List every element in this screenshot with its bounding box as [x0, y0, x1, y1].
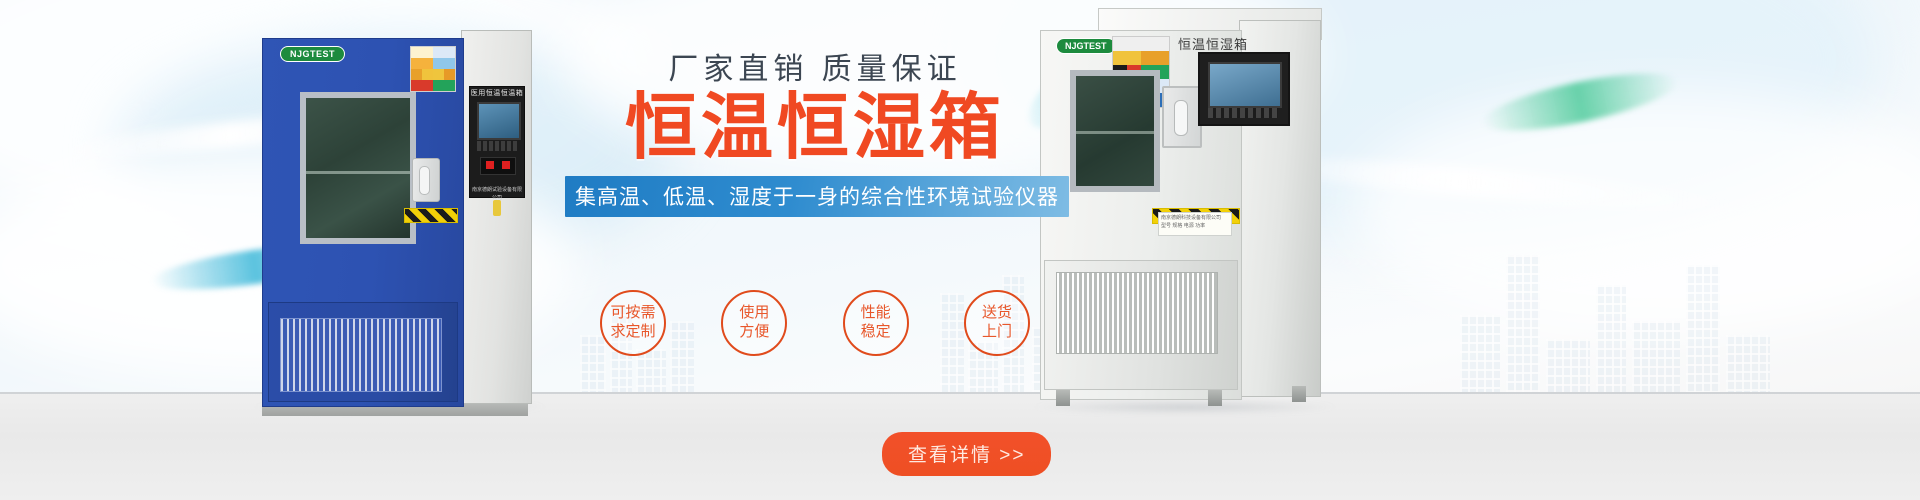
control-panel-title: 医用恒温恒温箱 — [470, 89, 524, 99]
control-panel-keys[interactable] — [1208, 108, 1278, 118]
window-glass — [306, 98, 410, 238]
ventilation-grille — [1056, 272, 1218, 354]
control-panel-keys[interactable] — [477, 141, 517, 151]
cloud-shape — [1350, 90, 1920, 330]
door-handle — [1162, 86, 1202, 148]
product-image-right-chamber: NJGTEST 恒温恒湿箱 南京德朗科技设备有限公司 型号 规格 电源 功率 — [1040, 8, 1320, 408]
banner-headline: 恒温恒湿箱 — [565, 90, 1065, 168]
feature-badge-group: 可按需 求定制 使用 方便 性能 稳定 送货 上门 — [600, 290, 1030, 356]
feature-badge-easy-use-line2: 方便 — [739, 323, 769, 342]
feature-badge-stable[interactable]: 性能 稳定 — [843, 290, 909, 356]
spec-plate-line2: 型号 规格 电源 功率 — [1161, 223, 1229, 231]
feature-badge-easy-use[interactable]: 使用 方便 — [721, 290, 787, 356]
feature-badge-custom-line1: 可按需 — [610, 304, 655, 323]
warning-label-sticker — [410, 46, 456, 92]
control-panel-screen[interactable] — [477, 102, 521, 140]
feature-badge-stable-line2: 稳定 — [861, 323, 891, 342]
banner-copy-block: 厂家直销 质量保证 恒温恒湿箱 集高温、低温、湿度于一身的综合性环境试验仪器 — [565, 44, 1065, 217]
promo-banner: NJGTEST 医用恒温恒温箱 南京德朗试验设备有限公司 NJGTEST — [0, 0, 1920, 500]
window-glass — [1076, 76, 1154, 186]
led-readout — [480, 157, 516, 175]
feature-badge-custom[interactable]: 可按需 求定制 — [600, 290, 666, 356]
ventilation-grille — [280, 318, 442, 392]
feature-badge-delivery-line2: 上门 — [982, 323, 1012, 342]
banner-subline: 集高温、低温、湿度于一身的综合性环境试验仪器 — [565, 176, 1069, 217]
skyline-silhouette — [1460, 235, 1790, 405]
hazard-stripe-label — [404, 208, 458, 223]
control-panel[interactable] — [1198, 52, 1290, 126]
brand-logo: NJGTEST — [280, 46, 345, 62]
machine-foot — [1056, 390, 1070, 406]
control-panel[interactable]: 医用恒温恒温箱 南京德朗试验设备有限公司 — [469, 86, 525, 198]
machine-foot — [1292, 386, 1306, 402]
teal-swoosh — [1478, 62, 1682, 143]
chamber-viewing-window — [300, 92, 416, 244]
side-latch — [493, 200, 501, 216]
chamber-viewing-window — [1070, 70, 1160, 192]
machine-foot — [1208, 390, 1222, 406]
feature-badge-delivery[interactable]: 送货 上门 — [964, 290, 1030, 356]
product-image-left-chamber: NJGTEST 医用恒温恒温箱 南京德朗试验设备有限公司 — [262, 30, 530, 405]
feature-badge-easy-use-line1: 使用 — [739, 304, 769, 323]
feature-badge-custom-line2: 求定制 — [610, 323, 655, 342]
banner-tagline: 厂家直销 质量保证 — [565, 44, 1065, 88]
control-panel-brand: 南京德朗试验设备有限公司 — [472, 186, 522, 194]
door-handle — [412, 158, 440, 202]
feature-badge-stable-line1: 性能 — [861, 304, 891, 323]
spec-plate-line1: 南京德朗科技设备有限公司 — [1161, 215, 1229, 223]
view-details-button[interactable]: 查看详情 >> — [882, 432, 1051, 476]
feature-badge-delivery-line1: 送货 — [982, 304, 1012, 323]
spec-plate: 南京德朗科技设备有限公司 型号 规格 电源 功率 — [1158, 212, 1232, 236]
control-panel-screen[interactable] — [1208, 62, 1282, 108]
